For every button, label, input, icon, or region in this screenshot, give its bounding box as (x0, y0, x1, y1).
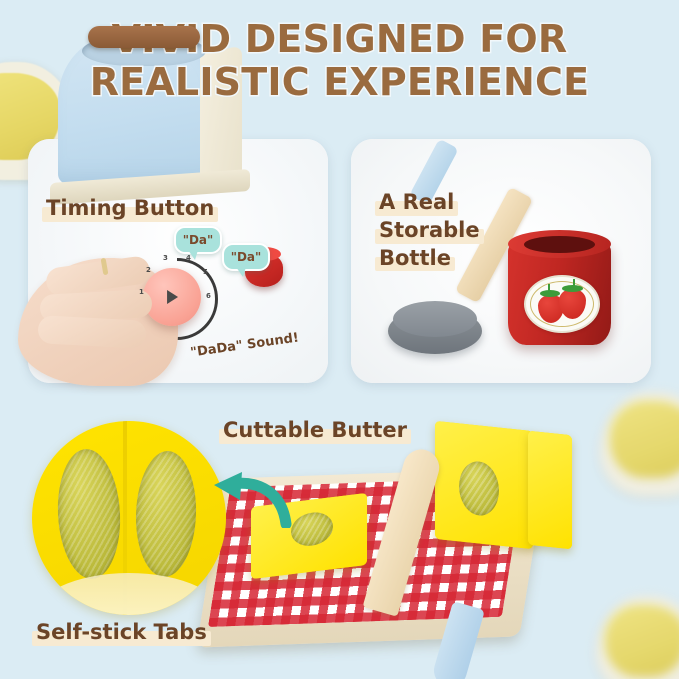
toaster-handle (88, 26, 200, 48)
jar-lid (388, 308, 482, 354)
jar-strawberry-label (524, 275, 600, 333)
dial-pointer-icon (167, 290, 178, 304)
speech-bubble-da-2: "Da" (222, 243, 270, 271)
velcro-tab-icon-right (134, 450, 198, 578)
strawberry-stem-icon (573, 279, 575, 286)
label-self-stick-tabs: Self-stick Tabs (32, 620, 211, 645)
dial-number-5: 5 (203, 268, 208, 276)
velcro-tab-icon-left (55, 447, 124, 580)
strawberry-icon (559, 289, 586, 319)
dial-number-2: 2 (146, 266, 151, 274)
dial-number-3: 3 (163, 254, 168, 262)
label-self-stick-tabs-text: Self-stick Tabs (32, 620, 211, 645)
speech-bubble-da-1: "Da" (174, 226, 222, 254)
infographic-stage: VIVID DESIGNED FOR REALISTIC EXPERIENCE … (0, 0, 679, 679)
strawberry-leaf-icon (562, 285, 583, 292)
label-storable-bottle-line-2: Storable (375, 218, 484, 243)
butter-face (528, 431, 572, 550)
label-cuttable-butter-text: Cuttable Butter (219, 418, 411, 443)
page-title-line-2: REALISTIC EXPERIENCE (0, 61, 679, 104)
finger (37, 315, 146, 349)
label-timing-button: Timing Button (42, 196, 218, 221)
label-timing-button-text: Timing Button (42, 196, 218, 221)
dial-number-1: 1 (139, 288, 144, 296)
butter-fold-shadow (32, 573, 226, 615)
curved-arrow-icon (212, 468, 292, 528)
strawberry-stem-icon (548, 284, 550, 291)
label-storable-bottle: A Real Storable Bottle (375, 190, 484, 270)
dial-number-6: 6 (206, 292, 211, 300)
label-storable-bottle-line-1: A Real (375, 190, 458, 215)
jar-opening (524, 236, 595, 253)
strawberry-leaf-icon (540, 290, 560, 297)
butter-block (435, 421, 533, 549)
velcro-closeup-circle (32, 421, 226, 615)
label-storable-bottle-line-3: Bottle (375, 246, 455, 271)
label-cuttable-butter: Cuttable Butter (219, 418, 411, 443)
timing-dial[interactable] (143, 268, 201, 326)
butter-block (528, 431, 572, 550)
